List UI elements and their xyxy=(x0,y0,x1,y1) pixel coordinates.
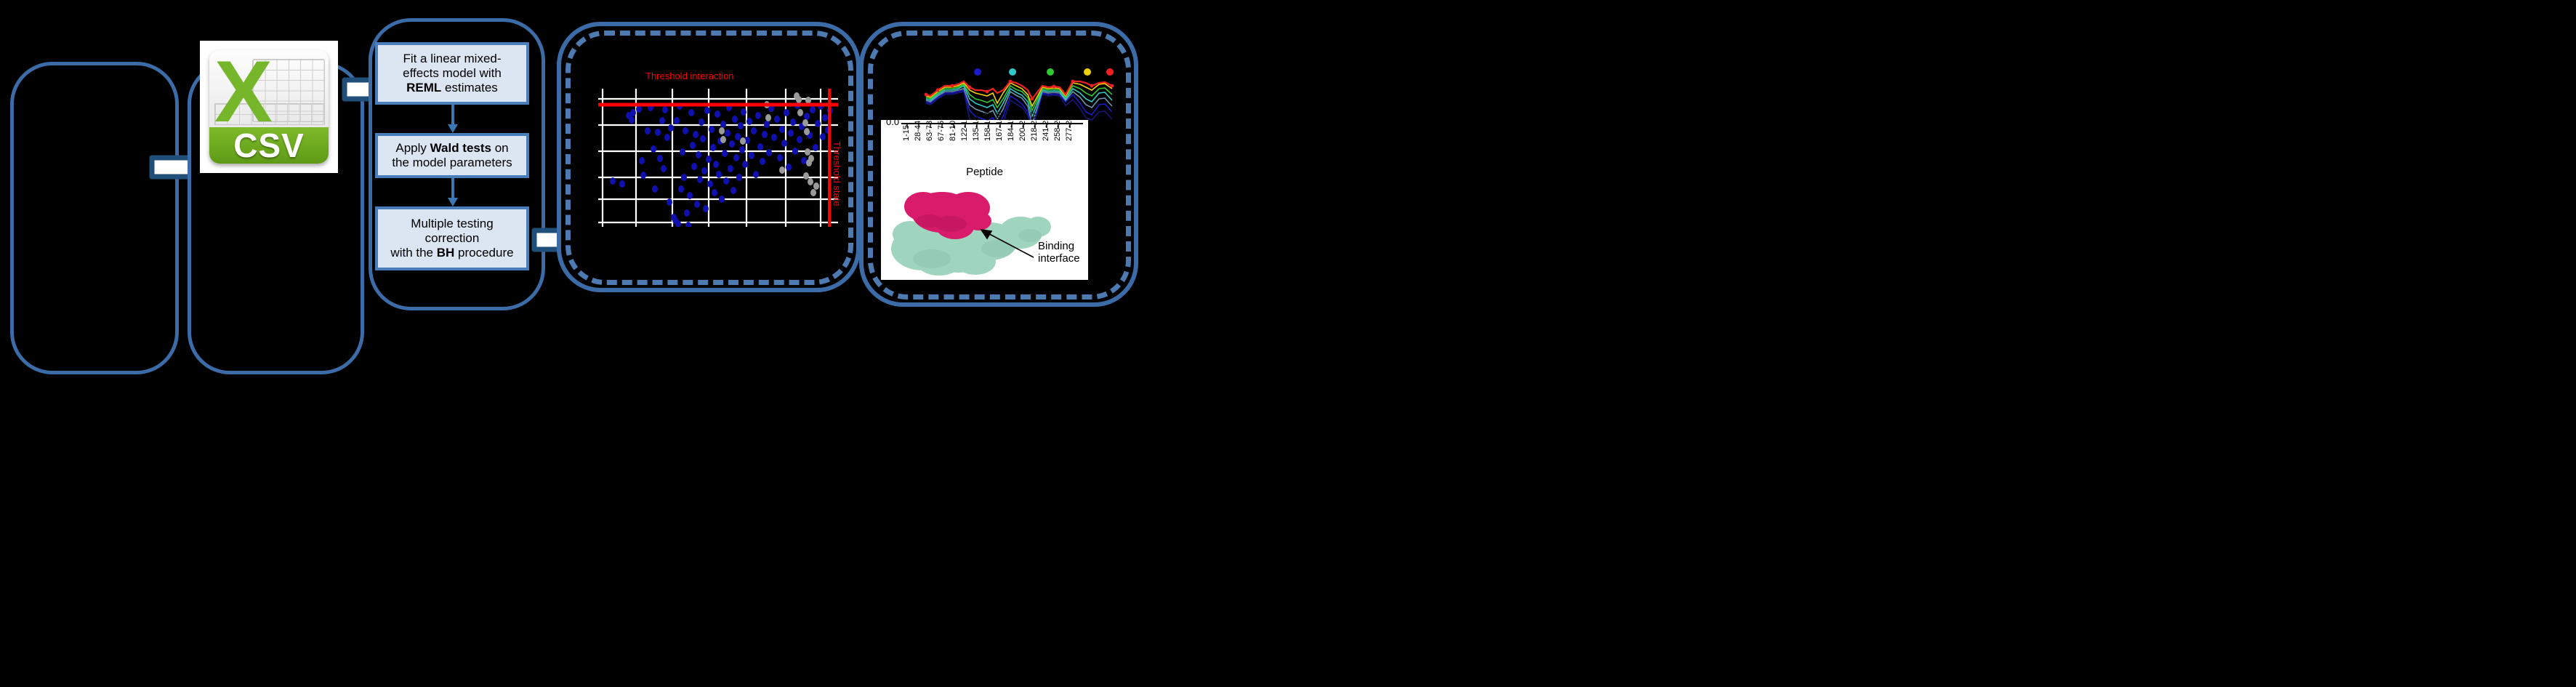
peptide-tick-label: 158-166 xyxy=(983,112,992,141)
peptide-tick-label: 258-266 xyxy=(1053,112,1062,141)
connector-wald-to-bh xyxy=(445,178,461,207)
volcano-plot-svg xyxy=(598,89,838,227)
threshold-interaction-label: Threshold interaction xyxy=(645,71,733,81)
connector-fit-to-wald xyxy=(445,105,461,134)
peptide-y-tick-zero: 0.0 xyxy=(886,116,899,127)
peptide-tick-label: 218-237 xyxy=(1030,112,1039,141)
peptide-tick-label: 135-144 xyxy=(972,112,981,141)
pipeline-stage-input xyxy=(10,62,179,374)
process-box-wald-tests-text: Apply Wald tests on the model parameters xyxy=(392,141,512,169)
peptide-tick-label: 241-257 xyxy=(1042,112,1050,141)
peptide-tick-label: 81-101 xyxy=(949,116,957,141)
process-box-multiple-testing-text: Multiple testing correction with the BH … xyxy=(390,217,513,260)
peptide-tick-label: 1-15 xyxy=(902,125,911,141)
peptide-tick-label: 167-180 xyxy=(995,112,1004,141)
legend-dot-red xyxy=(1106,68,1114,76)
peptide-tick-label: 200-214 xyxy=(1018,112,1027,141)
legend-dot-yellow xyxy=(1084,68,1091,76)
volcano-plot xyxy=(598,89,838,227)
peptide-tick-label: 277-284 xyxy=(1065,112,1074,141)
binding-interface-line1: Binding xyxy=(1038,240,1080,252)
process-box-fit-model-text: Fit a linear mixed- effects model with R… xyxy=(403,52,502,95)
pipeline-diagram: X CSV Fit a linear mixed- effects model … xyxy=(0,0,2576,687)
binding-interface-line2: interface xyxy=(1038,252,1080,265)
process-box-fit-model: Fit a linear mixed- effects model with R… xyxy=(375,42,529,105)
peptide-tick-label: 28-44 xyxy=(914,121,922,141)
legend-dot-blue xyxy=(974,68,981,76)
peptide-tick-label: 184-199 xyxy=(1007,112,1015,141)
process-box-wald-tests: Apply Wald tests on the model parameters xyxy=(375,133,529,178)
binding-interface-label: Binding interface xyxy=(1038,240,1080,265)
peptide-tick-label: 122-129 xyxy=(960,112,969,141)
peptide-tick-label: 67-75 xyxy=(937,121,946,141)
legend-dot-cyan xyxy=(1009,68,1016,76)
csv-file-card: X CSV xyxy=(200,41,338,173)
csv-icon: X CSV xyxy=(209,50,328,164)
excel-x-letter: X xyxy=(214,50,273,135)
peptide-tick-label: 63-73 xyxy=(925,121,934,141)
process-box-multiple-testing: Multiple testing correction with the BH … xyxy=(375,206,529,270)
legend-dot-green xyxy=(1047,68,1054,76)
peptide-axis-title: Peptide xyxy=(881,166,1088,178)
threshold-state-label: Threshold state xyxy=(832,141,842,206)
